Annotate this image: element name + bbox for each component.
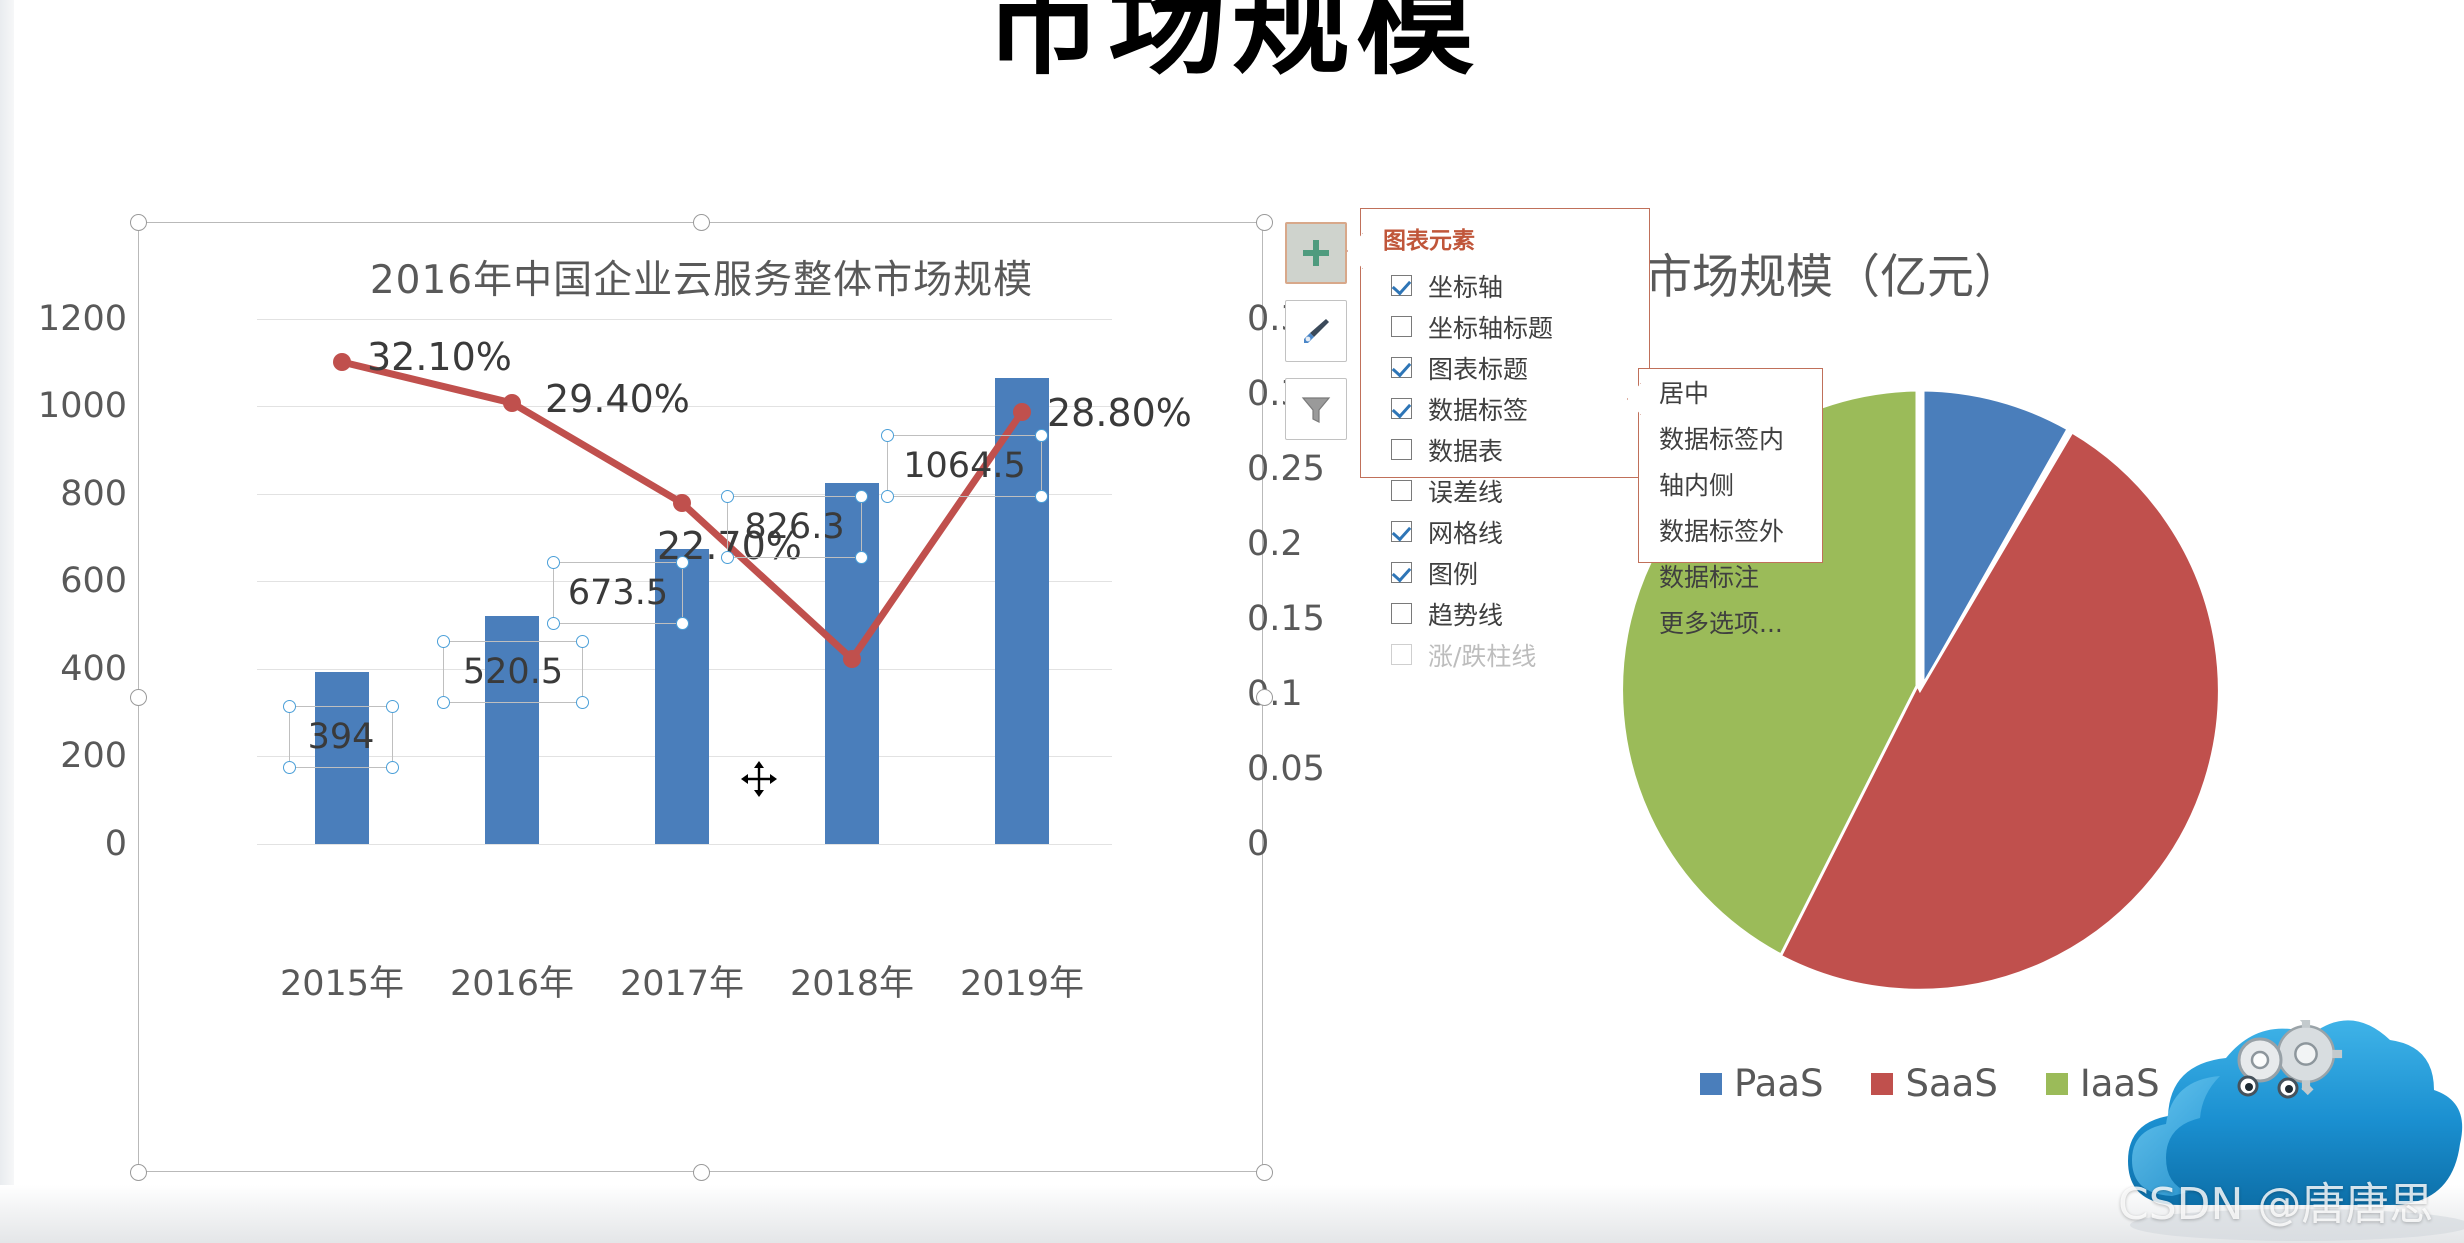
label-handle-nw[interactable] [547,556,560,569]
checkbox-unchecked-icon[interactable] [1391,439,1412,460]
label-handle-ne[interactable] [576,635,589,648]
label-handle-ne[interactable] [386,700,399,713]
menu-item-label: 图例 [1428,555,1478,591]
chart-elements-menu[interactable]: 图表元素 坐标轴 坐标轴标题 图表标题 数据标签 数据表 误差线 网格线 图例 … [1360,208,1650,478]
resize-handle-s[interactable] [693,1164,710,1181]
data-label-520-5[interactable]: 520.5 [443,641,583,703]
menu-item-label: 误差线 [1428,473,1503,509]
pie-legend-item-saas[interactable]: SaaS [1871,1062,1997,1105]
growth-label-2015[interactable]: 32.10% [367,335,512,379]
menu-item-chart-title[interactable]: 图表标题 [1361,347,1649,388]
funnel-icon [1299,392,1333,426]
label-handle-ne[interactable] [855,490,868,503]
resize-handle-n[interactable] [693,214,710,231]
slide-title: 市场规模 [0,0,2464,97]
label-handle-sw[interactable] [283,761,296,774]
label-handle-se[interactable] [855,551,868,564]
left-edge-strip [0,0,14,1243]
checkbox-unchecked-icon[interactable] [1391,316,1412,337]
x-axis-label-2018: 2018年 [767,955,937,1006]
legend-label: PaaS [1734,1062,1823,1105]
resize-handle-w[interactable] [130,689,147,706]
checkbox-checked-icon[interactable] [1391,562,1412,583]
pie-chart-title[interactable]: 市场规模（亿元） [1645,238,2021,307]
label-handle-se[interactable] [386,761,399,774]
data-label-1064-5[interactable]: 1064.5 [887,435,1042,497]
menu-item-axes[interactable]: 坐标轴 [1361,265,1649,306]
menu-item-label: 涨/跌柱线 [1428,637,1536,673]
y-axis-tick-label: 0 [7,824,127,864]
legend-swatch-iaas-icon [2046,1073,2068,1095]
resize-handle-nw[interactable] [130,214,147,231]
data-label-text: 1064.5 [903,446,1025,486]
label-handle-sw[interactable] [721,551,734,564]
resize-handle-se[interactable] [1256,1164,1273,1181]
label-handle-se[interactable] [676,617,689,630]
y2-axis-tick-label: 0 [1247,824,1387,864]
submenu-item-center[interactable]: 居中 [1639,369,1822,415]
menu-item-gridlines[interactable]: 网格线 [1361,511,1649,552]
plus-icon [1299,236,1333,270]
label-handle-ne[interactable] [676,556,689,569]
label-handle-sw[interactable] [547,617,560,630]
bar-chart-object[interactable]: 2016年中国企业云服务整体市场规模 1200 1000 800 600 400… [138,222,1263,1172]
label-handle-se[interactable] [1035,490,1048,503]
label-handle-nw[interactable] [881,429,894,442]
resize-handle-sw[interactable] [130,1164,147,1181]
data-label-text: 520.5 [463,652,563,692]
checkbox-checked-icon[interactable] [1391,275,1412,296]
chart-filters-button[interactable] [1285,378,1347,440]
bar-chart-title[interactable]: 2016年中国企业云服务整体市场规模 [139,249,1264,305]
menu-item-legend[interactable]: 图例 [1361,552,1649,593]
checkbox-checked-icon[interactable] [1391,521,1412,542]
x-axis-label-2019: 2019年 [937,955,1107,1006]
move-cursor-icon [740,760,778,798]
label-handle-nw[interactable] [721,490,734,503]
y-axis-tick-label: 200 [7,736,127,776]
y2-axis-tick-label: 0.05 [1247,749,1387,789]
submenu-item-inside-base[interactable]: 轴内侧 [1639,461,1822,507]
checkbox-checked-icon[interactable] [1391,398,1412,419]
label-handle-sw[interactable] [881,490,894,503]
x-axis-label-2015: 2015年 [257,955,427,1006]
data-label-826-3[interactable]: 826.3 [727,496,862,558]
chart-styles-button[interactable] [1285,300,1347,362]
chart-elements-menu-title: 图表元素 [1361,209,1649,265]
menu-item-up-down-bars: 涨/跌柱线 [1361,634,1649,675]
csdn-watermark: CSDN @唐唐思 [2118,1168,2433,1232]
data-label-text: 394 [308,717,375,757]
legend-label: SaaS [1905,1062,1997,1105]
submenu-item-more-options[interactable]: 更多选项... [1639,599,1822,645]
menu-item-label: 数据标签 [1428,391,1528,427]
growth-label-2016[interactable]: 29.40% [545,377,690,421]
y-axis-tick-label: 400 [7,649,127,689]
menu-item-error-bars[interactable]: 误差线 [1361,470,1649,511]
data-label-394[interactable]: 394 [289,706,393,768]
resize-handle-e[interactable] [1256,689,1273,706]
menu-item-label: 趋势线 [1428,596,1503,632]
resize-handle-ne[interactable] [1256,214,1273,231]
y-axis-tick-label: 600 [7,561,127,601]
submenu-item-outside-end[interactable]: 数据标签外 [1639,507,1822,553]
slide-bottom-band [0,1185,2464,1243]
label-handle-sw[interactable] [437,696,450,709]
menu-item-label: 数据表 [1428,432,1503,468]
y-axis-tick-label: 800 [7,474,127,514]
y-axis-tick-label: 1000 [7,386,127,426]
menu-item-label: 图表标题 [1428,350,1528,386]
menu-item-axis-titles[interactable]: 坐标轴标题 [1361,306,1649,347]
label-handle-nw[interactable] [437,635,450,648]
menu-item-label: 网格线 [1428,514,1503,550]
label-handle-ne[interactable] [1035,429,1048,442]
menu-item-label: 坐标轴 [1428,268,1503,304]
pie-legend-item-paas[interactable]: PaaS [1700,1062,1823,1105]
menu-item-data-labels[interactable]: 数据标签 [1361,388,1649,429]
data-label-673-5[interactable]: 673.5 [553,562,683,624]
pie-chart-legend[interactable]: PaaS SaaS IaaS [1700,1062,2160,1105]
bar-chart-plot-area[interactable]: 1200 1000 800 600 400 200 0 0.35 0.3 0.2… [257,319,1112,844]
submenu-item-data-callout[interactable]: 数据标注 [1639,553,1822,599]
x-axis-label-2016: 2016年 [427,955,597,1006]
checkbox-disabled-icon [1391,644,1412,665]
gridline [257,844,1112,845]
paintbrush-icon [1299,314,1333,348]
checkbox-checked-icon[interactable] [1391,357,1412,378]
label-handle-nw[interactable] [283,700,296,713]
legend-swatch-paas-icon [1700,1073,1722,1095]
chart-elements-button[interactable] [1285,222,1347,284]
growth-label-2019[interactable]: 28.80% [1047,391,1192,435]
chart-side-buttons[interactable] [1285,222,1357,456]
label-handle-se[interactable] [576,696,589,709]
menu-item-trendline[interactable]: 趋势线 [1361,593,1649,634]
menu-item-data-table[interactable]: 数据表 [1361,429,1649,470]
data-label-text: 826.3 [744,507,844,547]
checkbox-unchecked-icon[interactable] [1391,603,1412,624]
legend-swatch-saas-icon [1871,1073,1893,1095]
data-labels-submenu[interactable]: 居中 数据标签内 轴内侧 数据标签外 数据标注 更多选项... [1638,368,1823,563]
checkbox-unchecked-icon[interactable] [1391,480,1412,501]
x-axis-label-2017: 2017年 [597,955,767,1006]
data-label-text: 673.5 [568,573,668,613]
y-axis-tick-label: 1200 [7,299,127,339]
menu-item-label: 坐标轴标题 [1428,309,1553,345]
submenu-item-inside-end[interactable]: 数据标签内 [1639,415,1822,461]
